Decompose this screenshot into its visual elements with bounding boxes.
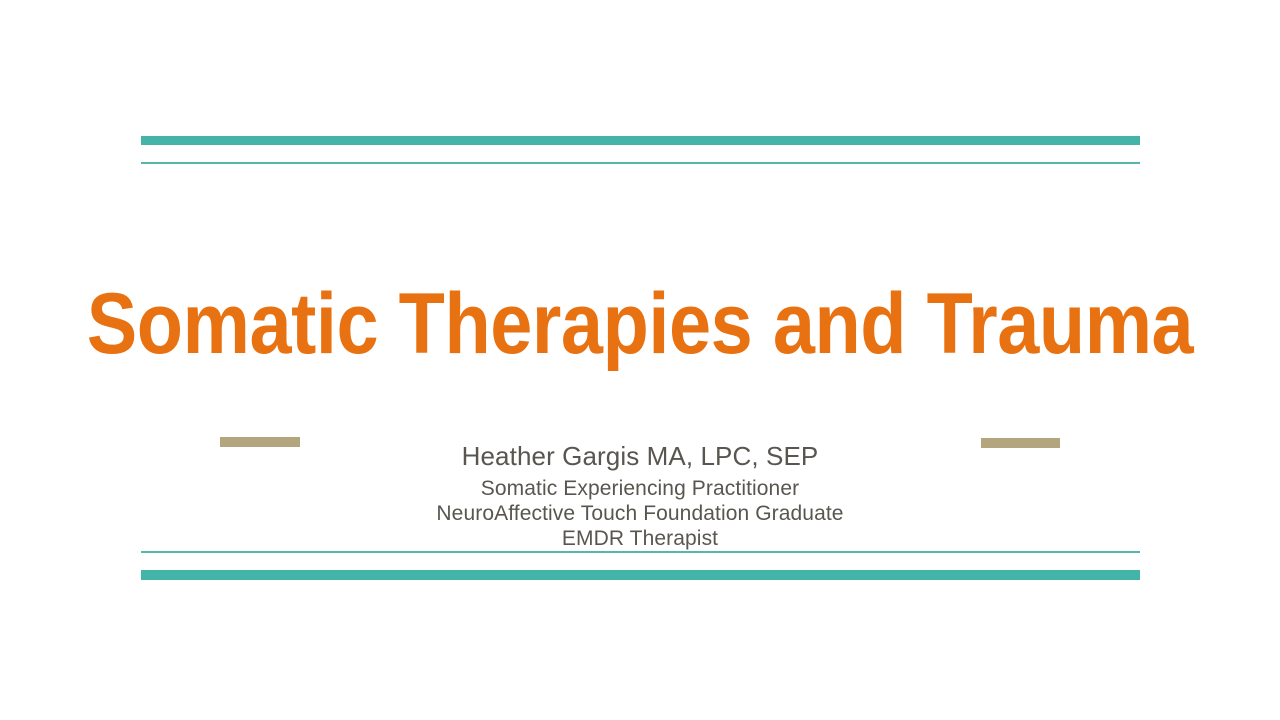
credential-line: NeuroAffective Touch Foundation Graduate (0, 501, 1280, 526)
credential-line: Somatic Experiencing Practitioner (0, 476, 1280, 501)
slide-title: Somatic Therapies and Trauma (77, 272, 1203, 376)
top-thick-divider (141, 136, 1140, 145)
credentials-list: Somatic Experiencing Practitioner NeuroA… (0, 476, 1280, 551)
credential-line: EMDR Therapist (0, 526, 1280, 551)
presenter-name: Heather Gargis MA, LPC, SEP (0, 438, 1280, 474)
bottom-thick-divider (141, 570, 1140, 580)
presentation-slide: Somatic Therapies and Trauma Heather Gar… (0, 0, 1280, 720)
top-thin-divider (141, 162, 1140, 164)
slide-subtitle-block: Heather Gargis MA, LPC, SEP Somatic Expe… (0, 438, 1280, 551)
bottom-thin-divider (141, 551, 1140, 553)
